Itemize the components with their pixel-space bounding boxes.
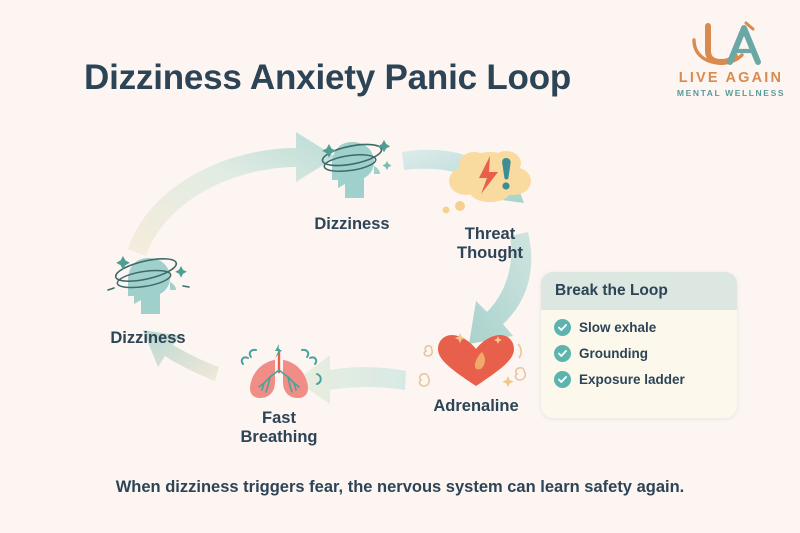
list-item-label: Slow exhale xyxy=(579,320,656,335)
node-fast-breathing: Fast Breathing xyxy=(214,342,344,447)
node-dizziness-top: Dizziness xyxy=(288,128,416,234)
infographic-canvas: Dizziness Anxiety Panic Loop LIVE AGAIN … xyxy=(0,0,800,533)
brand-name: LIVE AGAIN xyxy=(672,70,790,86)
break-the-loop-card: Break the Loop Slow exhale Grounding Exp… xyxy=(541,272,737,418)
brand-logo: LIVE AGAIN MENTAL WELLNESS xyxy=(672,20,790,98)
brand-tagline: MENTAL WELLNESS xyxy=(672,88,790,98)
node-label: Threat Thought xyxy=(426,225,554,263)
thought-cloud-icon xyxy=(426,148,554,220)
node-dizziness-left: Dizziness xyxy=(84,244,212,348)
page-title: Dizziness Anxiety Panic Loop xyxy=(84,58,571,98)
node-threat-thought: Threat Thought xyxy=(426,148,554,263)
heart-icon xyxy=(412,330,540,392)
list-item[interactable]: Grounding xyxy=(554,345,737,362)
lungs-icon xyxy=(214,342,344,404)
node-adrenaline: Adrenaline xyxy=(412,330,540,416)
check-icon xyxy=(554,319,571,336)
card-item-list: Slow exhale Grounding Exposure ladder xyxy=(541,310,737,388)
card-title: Break the Loop xyxy=(555,282,668,300)
node-label: Dizziness xyxy=(288,215,416,234)
check-icon xyxy=(554,345,571,362)
list-item[interactable]: Slow exhale xyxy=(554,319,737,336)
node-label: Adrenaline xyxy=(412,397,540,416)
footer-caption: When dizziness triggers fear, the nervou… xyxy=(0,478,800,497)
la-monogram-icon xyxy=(672,20,790,68)
dizzy-head-icon xyxy=(84,244,212,324)
list-item-label: Exposure ladder xyxy=(579,372,685,387)
dizzy-head-icon xyxy=(288,128,416,210)
list-item[interactable]: Exposure ladder xyxy=(554,371,737,388)
node-label: Dizziness xyxy=(84,329,212,348)
node-label: Fast Breathing xyxy=(214,409,344,447)
card-header: Break the Loop xyxy=(541,272,737,310)
list-item-label: Grounding xyxy=(579,346,648,361)
check-icon xyxy=(554,371,571,388)
